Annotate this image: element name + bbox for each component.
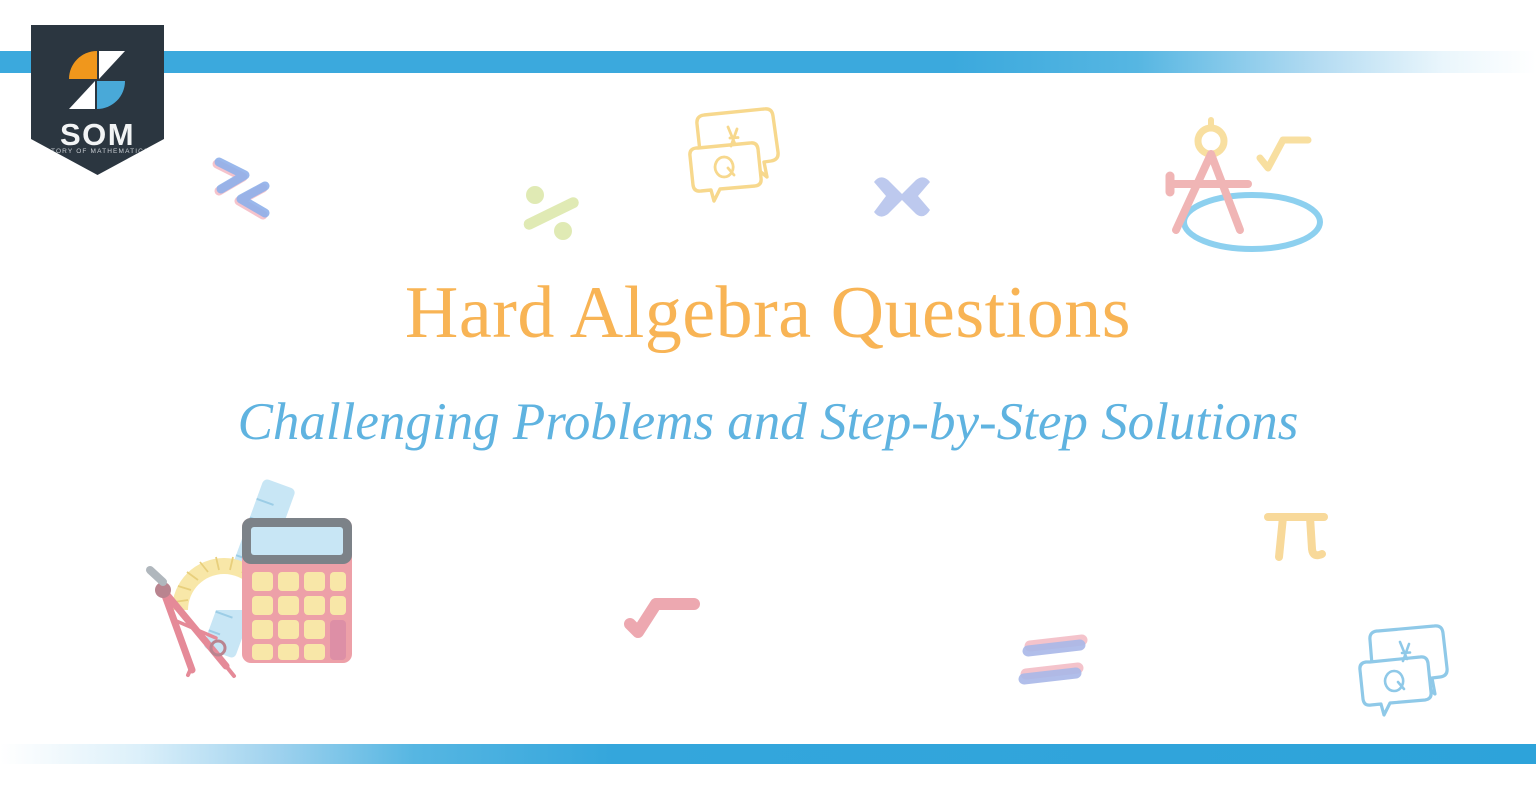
math-tools-doodle — [130, 470, 365, 690]
som-logo-shield[interactable]: SOM STORY OF MATHEMATICS — [31, 25, 164, 175]
equals-symbol-doodle — [1012, 632, 1102, 696]
inequality-symbols-doodle — [205, 148, 305, 228]
top-accent-rule — [0, 51, 1536, 73]
banner-canvas: SOM STORY OF MATHEMATICS Hard Algebra Qu… — [0, 0, 1536, 798]
qa-speech-bubbles-yellow-doodle — [668, 105, 788, 203]
bottom-accent-rule — [0, 744, 1536, 764]
compass-and-circle-doodle — [1148, 112, 1348, 260]
division-symbol-doodle — [513, 175, 595, 255]
page-title: Hard Algebra Questions — [0, 276, 1536, 350]
som-wordmark: SOM — [31, 119, 164, 150]
som-logo-mark-icon — [67, 49, 127, 111]
som-tagline: STORY OF MATHEMATICS — [31, 149, 164, 156]
page-subtitle: Challenging Problems and Step-by-Step So… — [0, 396, 1536, 449]
square-root-symbol-doodle — [622, 586, 714, 650]
multiplication-symbol-doodle — [864, 168, 940, 240]
pi-symbol-doodle — [1254, 497, 1338, 573]
qa-speech-bubbles-blue-doodle — [1344, 622, 1456, 718]
